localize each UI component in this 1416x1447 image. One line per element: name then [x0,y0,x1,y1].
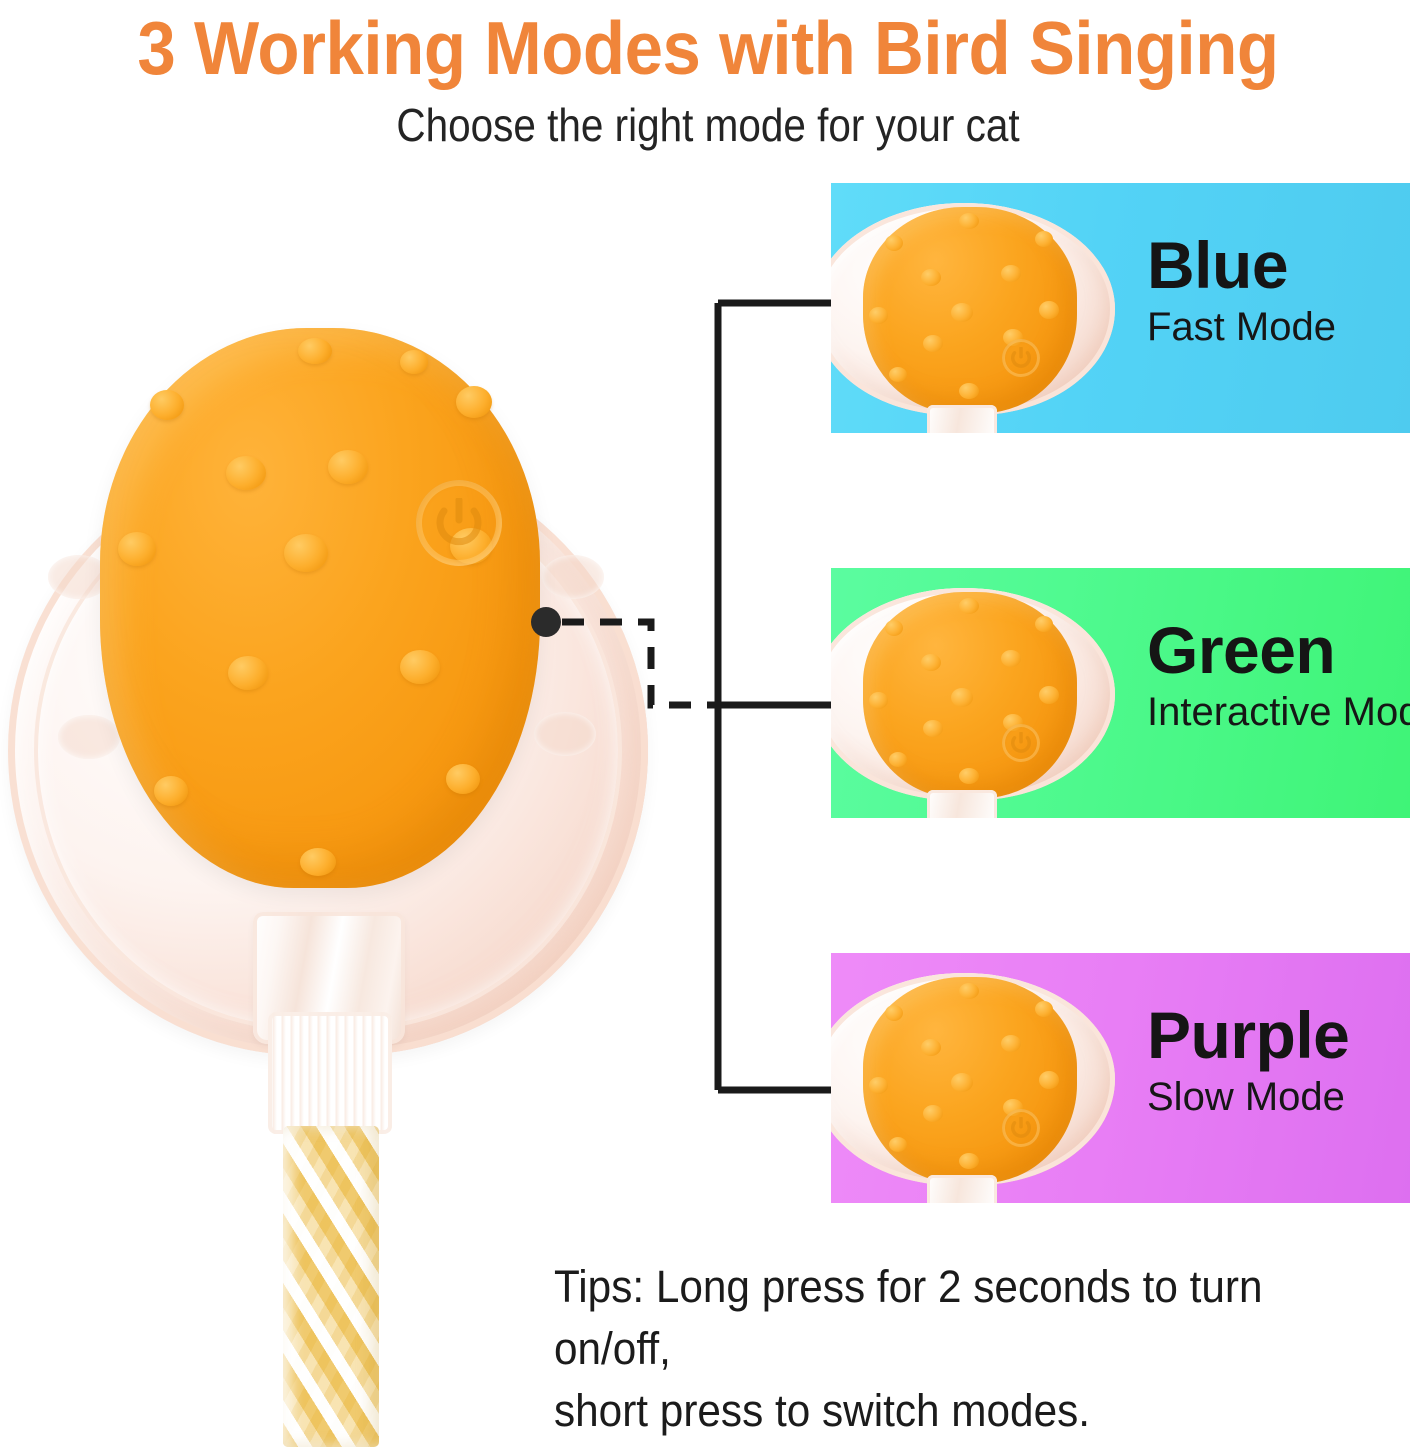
thumb-bump [921,654,941,671]
silicone-bump [154,776,188,806]
mode-color-name: Blue [1147,231,1407,299]
thumb-bump [959,768,979,784]
silicone-bump [400,350,428,374]
thumb-bump [951,1073,973,1092]
thumb-bump [885,620,903,636]
thumb-bump [869,1077,888,1094]
silicone-bump [228,656,268,690]
thumb-silicone-face [863,207,1077,413]
silicone-bump [300,848,336,876]
thumb-bump [959,1153,979,1169]
thumb-silicone-face [863,977,1077,1183]
thumb-bump [869,307,888,324]
silicone-bump [400,650,440,684]
silicone-bump [328,450,368,484]
silicone-bump [150,390,184,420]
product-thumbnail [831,576,1127,810]
thumb-bump [869,692,888,709]
mode-label: Fast Mode [1147,299,1407,351]
thumb-silicone-face [863,592,1077,798]
power-icon [1002,1109,1040,1147]
thumb-bump [921,269,941,286]
thumb-bump [1001,265,1021,282]
shell-vent-pad [542,555,604,599]
page-subtitle: Choose the right mode for your cat [85,90,1331,152]
product-thumbnail [831,961,1127,1195]
mode-panel-purple[interactable]: Purple Slow Mode [831,953,1410,1203]
mode-color-name: Green [1147,616,1407,684]
thumb-bump [923,335,943,352]
thumb-bump [959,213,979,229]
thumb-bump [951,303,973,322]
mode-panel-text-purple: Purple Slow Mode [1147,1001,1407,1121]
power-icon [1002,724,1040,762]
page-title: 3 Working Modes with Bird Singing [57,0,1360,90]
thumb-bump [921,1039,941,1056]
thumb-bump [959,983,979,999]
mode-label: Interactive Mode [1147,684,1407,736]
mode-label: Slow Mode [1147,1069,1407,1121]
power-icon [416,480,502,566]
shell-vent-pad [58,715,120,759]
silicone-bump [226,456,266,490]
shell-vent-pad [534,712,596,756]
product-braided-rod [283,1126,379,1447]
mode-panel-green[interactable]: Green Interactive Mode [831,568,1410,818]
power-icon [1002,339,1040,377]
tips-text: Tips: Long press for 2 seconds to turn o… [554,1256,1344,1442]
thumb-bump [889,1137,907,1152]
thumb-bump [923,1105,943,1122]
thumb-bump [885,235,903,251]
silicone-bump [298,338,332,364]
header: 3 Working Modes with Bird Singing Choose… [0,0,1416,152]
product-collar-ribbed [268,1012,392,1134]
tips-line-1: Tips: Long press for 2 seconds to turn o… [554,1256,1344,1380]
thumb-bump [1035,616,1053,632]
thumb-bump [923,720,943,737]
mode-panel-text-green: Green Interactive Mode [1147,616,1407,736]
thumb-bump [1001,650,1021,667]
silicone-bump [118,532,156,566]
mode-panel-text-blue: Blue Fast Mode [1147,231,1407,351]
product-silicone-face [100,328,540,888]
thumb-bump [1039,301,1059,319]
thumb-bump [1039,1071,1059,1089]
thumb-bump [1035,231,1053,247]
mode-panel-blue[interactable]: Blue Fast Mode [831,183,1410,433]
thumb-bump [959,598,979,614]
thumb-bump [889,367,907,382]
silicone-bump [456,386,492,418]
thumb-bump [1039,686,1059,704]
product-thumbnail [831,191,1127,425]
thumb-stem [927,790,997,818]
thumb-bump [1001,1035,1021,1052]
thumb-bump [889,752,907,767]
thumb-bump [885,1005,903,1021]
thumb-bump [1035,1001,1053,1017]
tips-line-2: short press to switch modes. [554,1380,1344,1442]
silicone-bump [446,764,480,794]
silicone-bump [284,534,328,572]
thumb-bump [959,383,979,399]
thumb-bump [951,688,973,707]
mode-color-name: Purple [1147,1001,1407,1069]
thumb-stem [927,1175,997,1203]
thumb-stem [927,405,997,433]
